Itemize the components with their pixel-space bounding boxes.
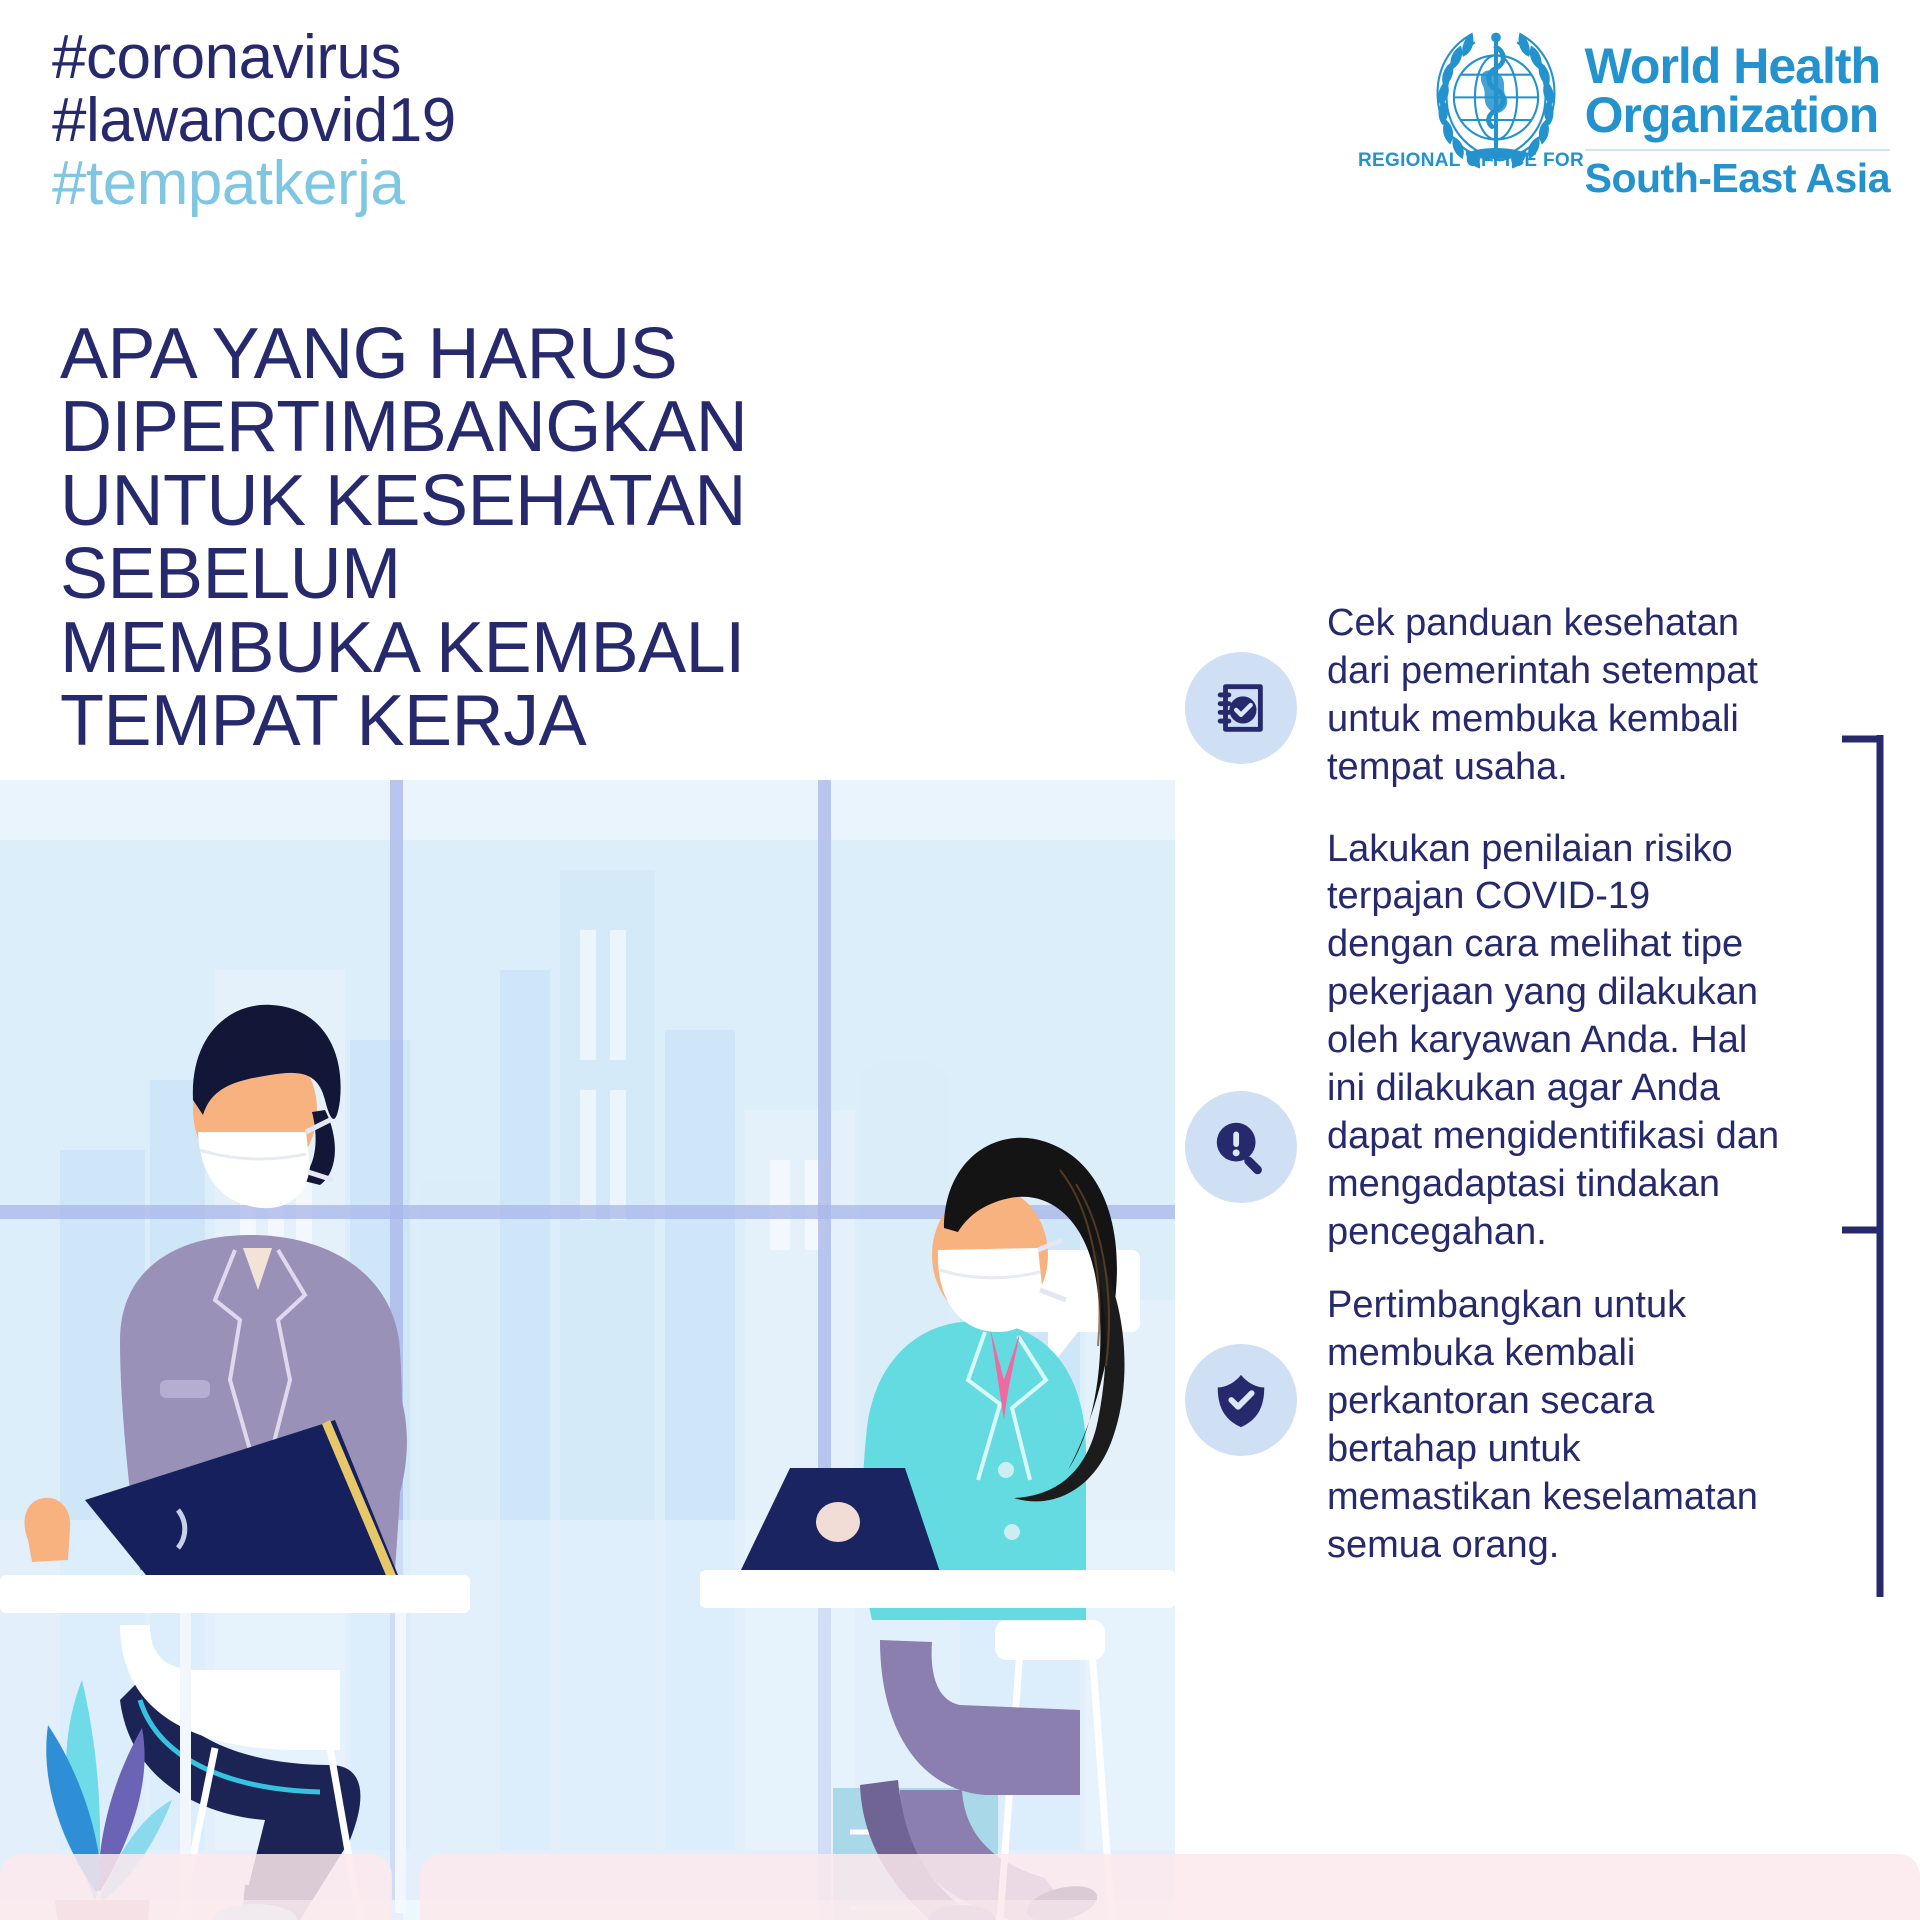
office-workers-scene xyxy=(0,780,1175,1920)
headline-line-1: APA YANG HARUS xyxy=(60,318,940,391)
office-illustration xyxy=(0,780,1175,1920)
headline-line-4: SEBELUM xyxy=(60,538,940,611)
who-wordmark: World Health Organization South-East Asi… xyxy=(1585,18,1890,199)
who-line1: World Health xyxy=(1585,42,1890,91)
headline-line-3: UNTUK KESEHATAN xyxy=(60,465,940,538)
bullet-item-1: Cek panduan kesehatan dari pemerintah se… xyxy=(1185,600,1885,792)
shield-check-icon xyxy=(1185,1344,1297,1456)
infographic-poster: #coronavirus #lawancovid19 #tempatkerja xyxy=(0,0,1920,1920)
who-region: South-East Asia xyxy=(1585,158,1890,199)
bullet-list: Cek panduan kesehatan dari pemerintah se… xyxy=(1185,600,1885,1600)
headline-line-2: DIPERTIMBANGKAN xyxy=(60,391,940,464)
hashtag-coronavirus: #coronavirus xyxy=(52,26,456,89)
bullet-text-2: Lakukan penilaian risiko terpajan COVID-… xyxy=(1327,826,1782,1257)
desk-right xyxy=(700,1570,1175,1608)
who-line2: Organization xyxy=(1585,91,1890,140)
who-regional-office-label: REGIONAL OFFICE FOR xyxy=(1358,150,1584,172)
page-title: APA YANG HARUS DIPERTIMBANGKAN UNTUK KES… xyxy=(60,318,940,759)
hashtag-block: #coronavirus #lawancovid19 #tempatkerja xyxy=(52,26,456,216)
headline-line-5: MEMBUKA KEMBALI xyxy=(60,612,940,685)
bullet-text-1: Cek panduan kesehatan dari pemerintah se… xyxy=(1327,600,1782,792)
who-divider xyxy=(1585,149,1890,151)
magnifier-alert-icon xyxy=(1185,1091,1297,1203)
bottom-bar-right xyxy=(420,1854,1920,1920)
hashtag-tempatkerja: #tempatkerja xyxy=(52,152,456,215)
bullet-item-2: Lakukan penilaian risiko terpajan COVID-… xyxy=(1185,826,1885,1257)
hashtag-lawancovid19: #lawancovid19 xyxy=(52,89,456,152)
headline-line-6: TEMPAT KERJA xyxy=(60,685,940,758)
bullet-item-3: Pertimbangkan untuk membuka kembali perk… xyxy=(1185,1282,1885,1569)
bullet-text-3: Pertimbangkan untuk membuka kembali perk… xyxy=(1327,1282,1782,1569)
male-hand xyxy=(25,1498,71,1562)
bottom-bar-left xyxy=(0,1854,392,1920)
notebook-check-icon xyxy=(1185,652,1297,764)
